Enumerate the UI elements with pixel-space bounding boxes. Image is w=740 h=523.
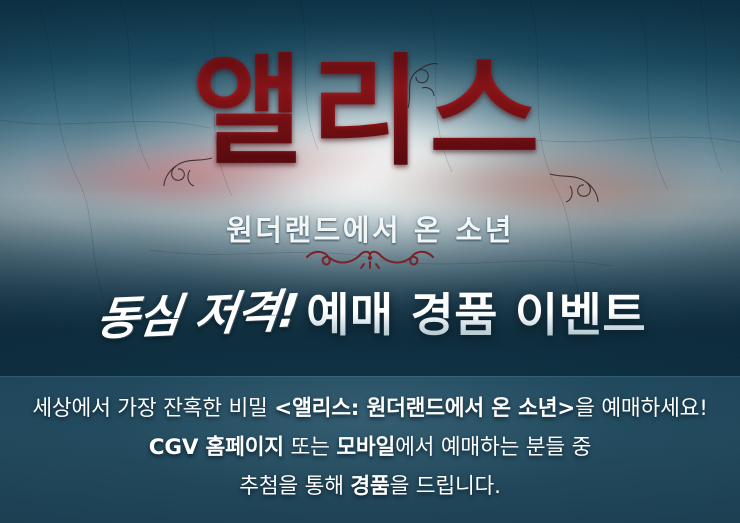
event-headline-brush: 동심 저격! (94, 287, 301, 342)
copy-line-3-prize: 경품 (350, 474, 389, 499)
event-copy-band: 세상에서 가장 잔혹한 비밀 <앨리스: 원더랜드에서 온 소년>을 예매하세요… (0, 376, 740, 523)
movie-key-art: 앨리스 원더랜드에서 온 소년 (0, 0, 740, 376)
copy-line-3-post: 을 드립니다. (390, 474, 501, 499)
copy-line-3: 추첨을 통해 경품을 드립니다. (0, 469, 740, 500)
event-headline: 동심 저격!예매 경품 이벤트 (0, 292, 740, 342)
copy-line-1: 세상에서 가장 잔혹한 비밀 <앨리스: 원더랜드에서 온 소년>을 예매하세요… (0, 391, 740, 422)
vine-flourish-icon-top (398, 58, 444, 110)
movie-subtitle: 원더랜드에서 온 소년 (0, 207, 740, 249)
copy-line-1-pre: 세상에서 가장 잔혹한 비밀 (32, 396, 274, 421)
copy-line-1-film-title: <앨리스: 원더랜드에서 온 소년> (274, 396, 575, 421)
copy-line-2-mobile: 모바일 (336, 435, 395, 460)
movie-title: 앨리스 (0, 52, 740, 172)
copy-line-2-post: 에서 예매하는 분들 중 (395, 435, 591, 460)
copy-line-3-pre: 추첨을 통해 (239, 474, 350, 499)
vine-flourish-icon-left (160, 152, 214, 192)
copy-line-2: CGV 홈페이지 또는 모바일에서 예매하는 분들 중 (0, 430, 740, 461)
copy-line-2-homepage: CGV 홈페이지 (149, 435, 284, 460)
copy-line-2-mid: 또는 (284, 435, 336, 460)
promotion-poster: 앨리스 원더랜드에서 온 소년 (0, 0, 740, 523)
vine-flourish-icon-right (548, 166, 604, 208)
event-headline-main: 예매 경품 이벤트 (306, 292, 646, 339)
floral-divider-ornament-icon (299, 245, 441, 271)
copy-line-1-post: 을 예매하세요! (575, 396, 708, 421)
